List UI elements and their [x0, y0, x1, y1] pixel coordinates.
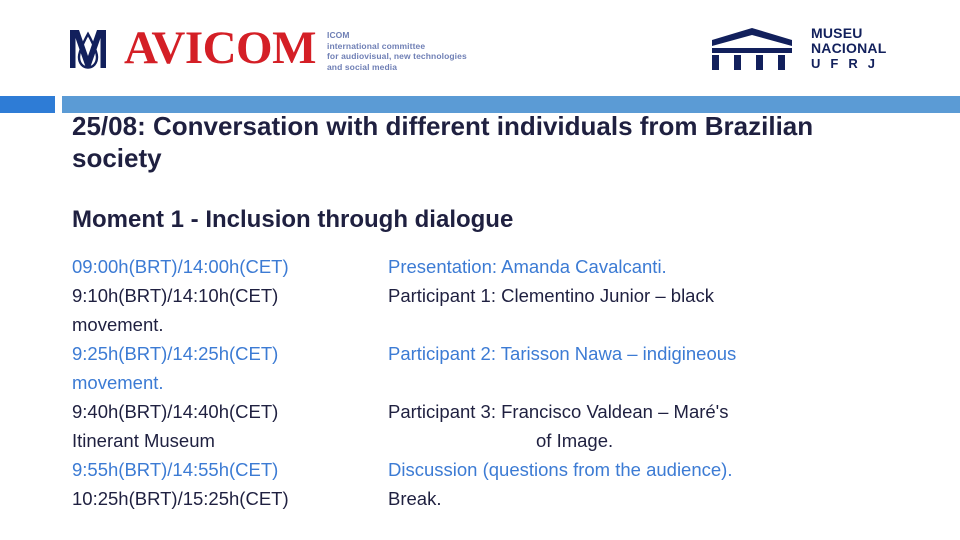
- museum-building-icon: [704, 27, 800, 71]
- museu-line-3: U F R J: [811, 56, 886, 71]
- schedule-description: Participant 2: Tarisson Nawa – indigineo…: [388, 339, 952, 368]
- schedule-time: 9:10h(BRT)/14:10h(CET) movement.: [72, 281, 388, 339]
- schedule-time-continuation: movement.: [72, 368, 388, 397]
- museu-line-1: MUSEU: [811, 26, 886, 41]
- schedule-row: 9:10h(BRT)/14:10h(CET) movement. Partici…: [72, 281, 952, 339]
- schedule-row: 9:55h(BRT)/14:55h(CET) Discussion (quest…: [72, 455, 952, 484]
- schedule-description-text: Presentation: Amanda Cavalcanti.: [388, 256, 667, 277]
- schedule-time-text: 9:25h(BRT)/14:25h(CET): [72, 343, 278, 364]
- schedule-time: 9:55h(BRT)/14:55h(CET): [72, 455, 388, 484]
- schedule-row: 09:00h(BRT)/14:00h(CET) Presentation: Am…: [72, 252, 952, 281]
- schedule-time: 09:00h(BRT)/14:00h(CET): [72, 252, 388, 281]
- slide-header: AVICOM ICOM international committee for …: [0, 0, 960, 96]
- schedule-description: Participant 1: Clementino Junior – black: [388, 281, 952, 310]
- avicom-subtitle: ICOM international committee for audiovi…: [327, 30, 467, 72]
- accent-bar-left: [0, 96, 55, 113]
- avicom-subtitle-line-3: for audiovisual, new technologies: [327, 51, 467, 62]
- avicom-subtitle-line-2: international committee: [327, 41, 467, 52]
- schedule-description: Presentation: Amanda Cavalcanti.: [388, 252, 952, 281]
- schedule-time-continuation: Itinerant Museum: [72, 426, 388, 455]
- schedule-description-text: Discussion (questions from the audience)…: [388, 459, 732, 480]
- schedule-row: 9:25h(BRT)/14:25h(CET) movement. Partici…: [72, 339, 952, 397]
- schedule-description: Discussion (questions from the audience)…: [388, 455, 952, 484]
- schedule-time-text: 9:40h(BRT)/14:40h(CET): [72, 401, 278, 422]
- schedule-description-text: Break.: [388, 488, 441, 509]
- schedule-row: 9:40h(BRT)/14:40h(CET) Itinerant Museum …: [72, 397, 952, 455]
- schedule-description: Participant 3: Francisco Valdean – Maré'…: [388, 397, 952, 455]
- schedule-description-text: Participant 2: Tarisson Nawa – indigineo…: [388, 343, 736, 364]
- schedule-list: 09:00h(BRT)/14:00h(CET) Presentation: Am…: [72, 252, 952, 513]
- schedule-time-continuation: movement.: [72, 310, 388, 339]
- schedule-description-text: Participant 1: Clementino Junior – black: [388, 285, 714, 306]
- avicom-subtitle-line-4: and social media: [327, 62, 467, 73]
- avicom-subtitle-line-1: ICOM: [327, 30, 467, 41]
- schedule-time-text: 09:00h(BRT)/14:00h(CET): [72, 256, 289, 277]
- avicom-logo: AVICOM ICOM international committee for …: [66, 24, 467, 74]
- schedule-time: 9:25h(BRT)/14:25h(CET) movement.: [72, 339, 388, 397]
- museu-nacional-logo: MUSEU NACIONAL U F R J: [704, 26, 886, 71]
- section-title: Moment 1 - Inclusion through dialogue: [72, 205, 902, 235]
- schedule-time-text: 9:10h(BRT)/14:10h(CET): [72, 285, 278, 306]
- schedule-time-text: 9:55h(BRT)/14:55h(CET): [72, 459, 278, 480]
- museu-line-2: NACIONAL: [811, 41, 886, 56]
- schedule-time: 10:25h(BRT)/15:25h(CET): [72, 484, 388, 513]
- schedule-row: 10:25h(BRT)/15:25h(CET) Break.: [72, 484, 952, 513]
- schedule-time-text: 10:25h(BRT)/15:25h(CET): [72, 488, 289, 509]
- schedule-description-continuation: of Image.: [388, 426, 952, 455]
- schedule-description-text: Participant 3: Francisco Valdean – Maré'…: [388, 401, 728, 422]
- museu-nacional-text: MUSEU NACIONAL U F R J: [811, 26, 886, 71]
- schedule-description: Break.: [388, 484, 952, 513]
- avicom-monogram-icon: [66, 24, 122, 74]
- page-title: 25/08: Conversation with different indiv…: [72, 110, 902, 174]
- avicom-wordmark: AVICOM: [124, 25, 316, 71]
- schedule-time: 9:40h(BRT)/14:40h(CET) Itinerant Museum: [72, 397, 388, 455]
